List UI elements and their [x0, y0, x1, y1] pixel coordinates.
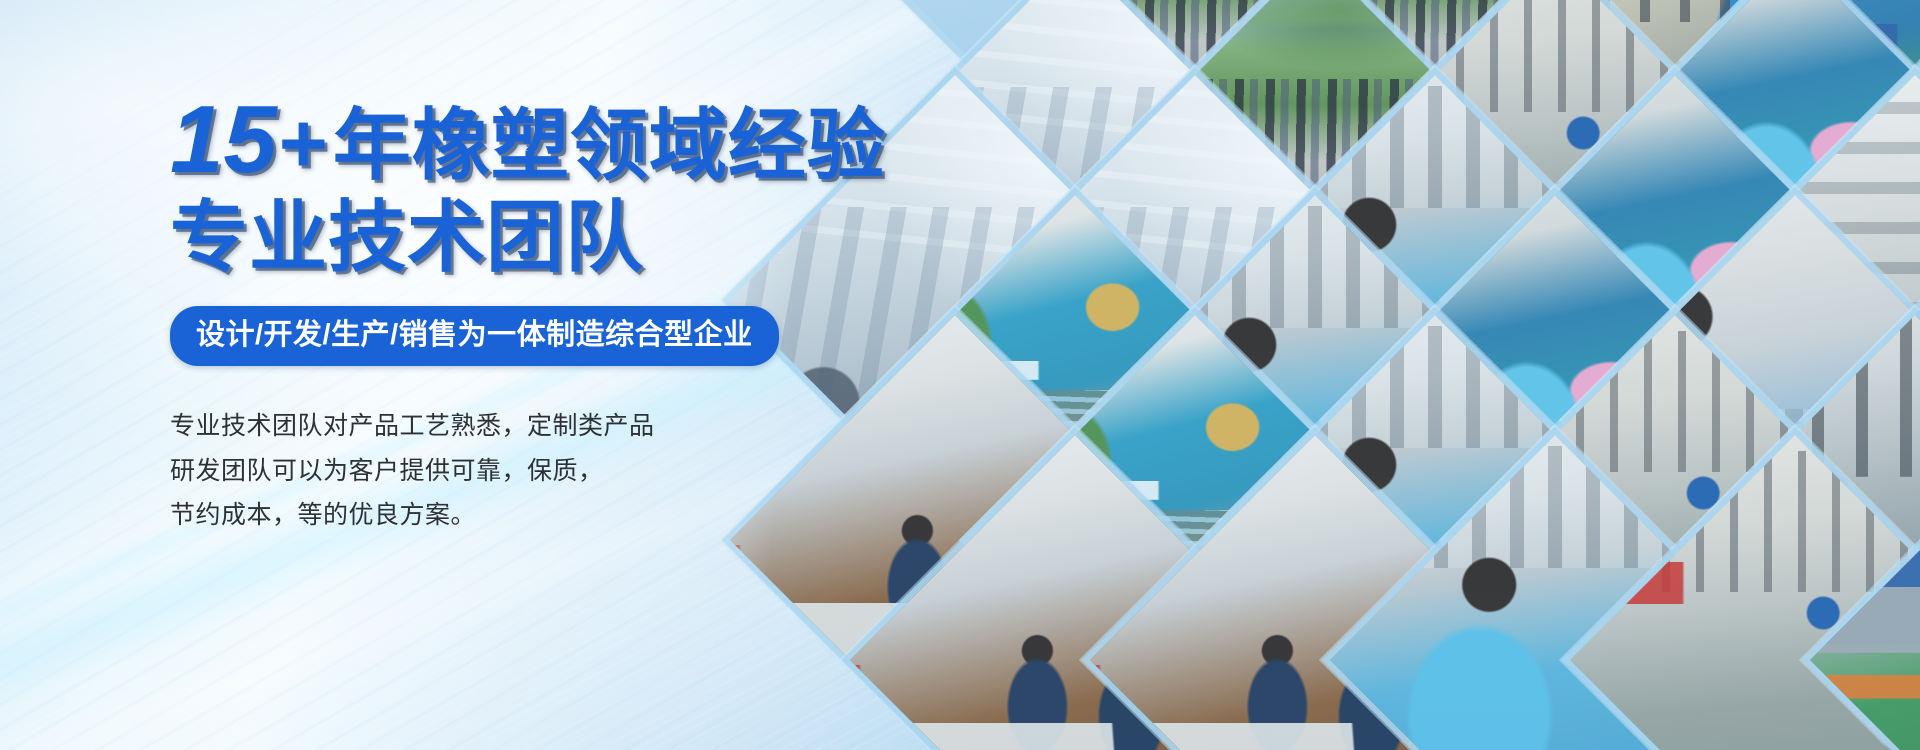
- headline-line-2: 专业技术团队: [170, 198, 910, 276]
- headline-line-1-text: 年橡塑领域经验: [333, 101, 886, 189]
- hero-text-block: 15+年橡塑领域经验 专业技术团队 设计/开发/生产/销售为一体制造综合型企业 …: [170, 92, 910, 538]
- hero-banner: 15+年橡塑领域经验 专业技术团队 设计/开发/生产/销售为一体制造综合型企业 …: [0, 0, 1920, 750]
- plus-symbol: +: [279, 96, 329, 190]
- tagline-pill: 设计/开发/生产/销售为一体制造综合型企业: [170, 306, 779, 366]
- body-line-2: 研发团队可以为客户提供可靠，保质，: [170, 449, 910, 494]
- body-copy: 专业技术团队对产品工艺熟悉，定制类产品 研发团队可以为客户提供可靠，保质， 节约…: [170, 404, 910, 538]
- pill-row: 设计/开发/生产/销售为一体制造综合型企业: [170, 306, 910, 366]
- headline-line-1: 15+年橡塑领域经验: [170, 92, 910, 188]
- body-line-1: 专业技术团队对产品工艺熟悉，定制类产品: [170, 404, 910, 449]
- body-line-3: 节约成本，等的优良方案。: [170, 493, 910, 538]
- years-number: 15: [170, 86, 277, 193]
